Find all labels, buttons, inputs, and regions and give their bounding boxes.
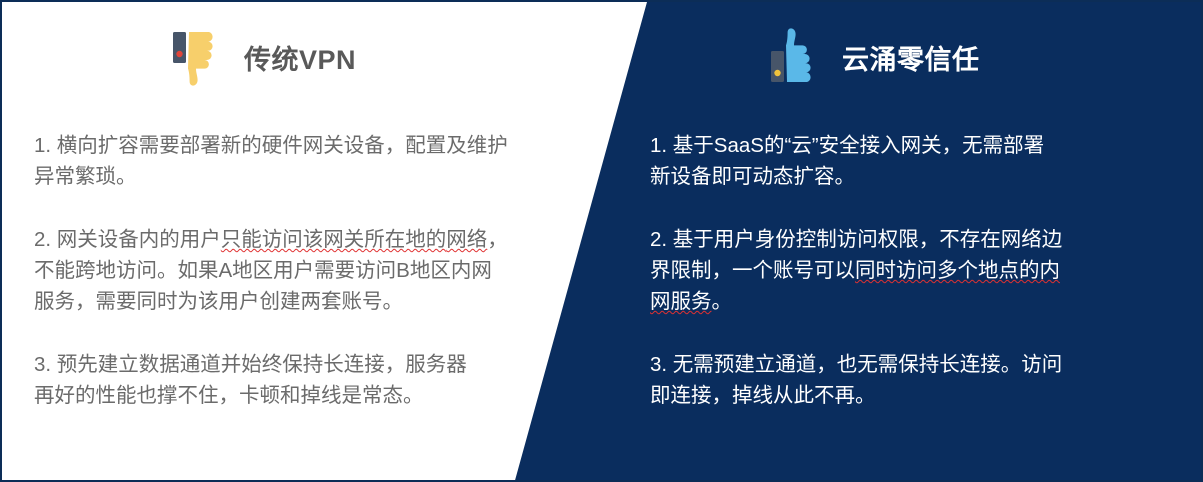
right-item-3: 3. 无需预建立通道，也无需保持长连接。访问 即连接，掉线从此不再。 xyxy=(650,349,1140,411)
left-header: 传统VPN xyxy=(170,28,356,86)
left-item-list: 1. 横向扩容需要部署新的硬件网关设备，配置及维护 异常繁琐。 2. 网关设备内… xyxy=(2,130,602,411)
thumbs-up-icon xyxy=(768,28,826,86)
right-header: 云涌零信任 xyxy=(768,28,980,86)
left-title: 传统VPN xyxy=(244,38,356,77)
comparison-slide: 传统VPN 1. 横向扩容需要部署新的硬件网关设备，配置及维护 异常繁琐。 2.… xyxy=(0,0,1203,482)
right-item-2: 2. 基于用户身份控制访问权限，不存在网络边 界限制，一个账号可以同时访问多个地… xyxy=(650,224,1140,317)
right-title: 云涌零信任 xyxy=(842,38,980,77)
left-item-2: 2. 网关设备内的用户只能访问该网关所在地的网络， 不能跨地访问。如果A地区用户… xyxy=(34,224,566,317)
left-item-1: 1. 横向扩容需要部署新的硬件网关设备，配置及维护 异常繁琐。 xyxy=(34,130,566,192)
left-column-traditional-vpn: 传统VPN 1. 横向扩容需要部署新的硬件网关设备，配置及维护 异常繁琐。 2.… xyxy=(2,2,602,482)
right-item-list: 1. 基于SaaS的“云”安全接入网关，无需部署 新设备即可动态扩容。 2. 基… xyxy=(650,130,1170,411)
right-column-zero-trust: 云涌零信任 1. 基于SaaS的“云”安全接入网关，无需部署 新设备即可动态扩容… xyxy=(650,2,1170,482)
thumbs-down-icon xyxy=(170,28,228,86)
right-item-1: 1. 基于SaaS的“云”安全接入网关，无需部署 新设备即可动态扩容。 xyxy=(650,130,1140,192)
left-item-3: 3. 预先建立数据通道并始终保持长连接，服务器 再好的性能也撑不住，卡顿和掉线是… xyxy=(34,349,566,411)
